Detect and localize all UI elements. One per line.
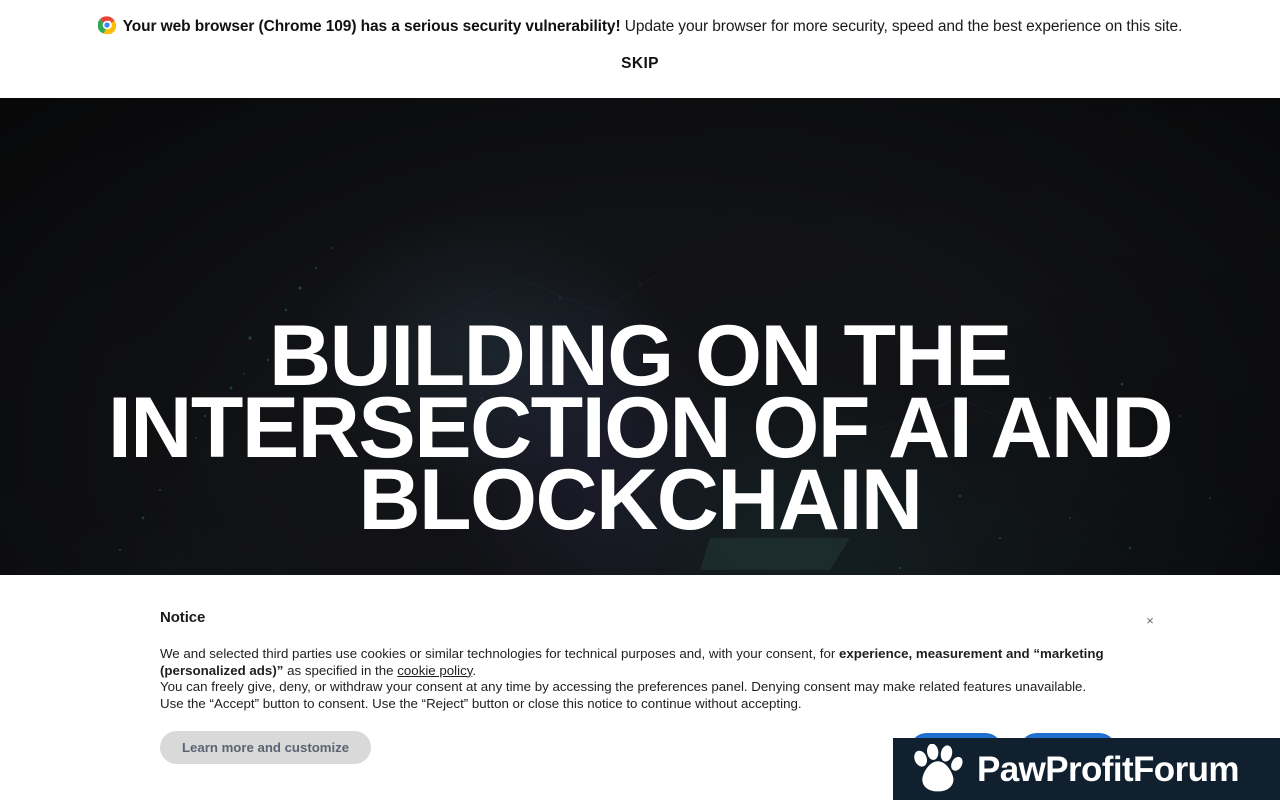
watermark-text: PawProfitForum <box>977 752 1239 787</box>
update-banner-headline: Your web browser (Chrome 109) has a seri… <box>123 18 621 35</box>
chrome-icon <box>98 16 116 34</box>
skip-link[interactable]: SKIP <box>0 55 1280 73</box>
cookie-p1-part2: as specified in the <box>283 663 397 678</box>
update-banner-detail: Update your browser for more security, s… <box>621 18 1183 35</box>
hero-title: BUILDING ON THE INTERSECTION OF AI AND B… <box>0 320 1280 536</box>
cookie-p1-part1: We and selected third parties use cookie… <box>160 646 839 661</box>
pawprofitforum-watermark: PawProfitForum <box>893 738 1280 800</box>
page-root: Your web browser (Chrome 109) has a seri… <box>0 0 1280 800</box>
learn-more-button[interactable]: Learn more and customize <box>160 731 371 764</box>
cookie-policy-link[interactable]: cookie policy <box>397 663 472 678</box>
cookie-paragraph-1: We and selected third parties use cookie… <box>160 646 1140 679</box>
cookie-paragraph-3: Use the “Accept” button to consent. Use … <box>160 696 1140 713</box>
cookie-p1-part3: . <box>472 663 476 678</box>
paw-icon <box>909 744 965 794</box>
cookie-notice-content: Notice × We and selected third parties u… <box>160 575 1140 712</box>
browser-update-banner: Your web browser (Chrome 109) has a seri… <box>0 0 1280 98</box>
cookie-paragraph-2: You can freely give, deny, or withdraw y… <box>160 679 1140 696</box>
update-banner-message: Your web browser (Chrome 109) has a seri… <box>0 15 1280 39</box>
close-icon[interactable]: × <box>1140 611 1160 631</box>
cookie-notice-title: Notice <box>160 609 1140 626</box>
cookie-notice-body: We and selected third parties use cookie… <box>160 646 1140 712</box>
